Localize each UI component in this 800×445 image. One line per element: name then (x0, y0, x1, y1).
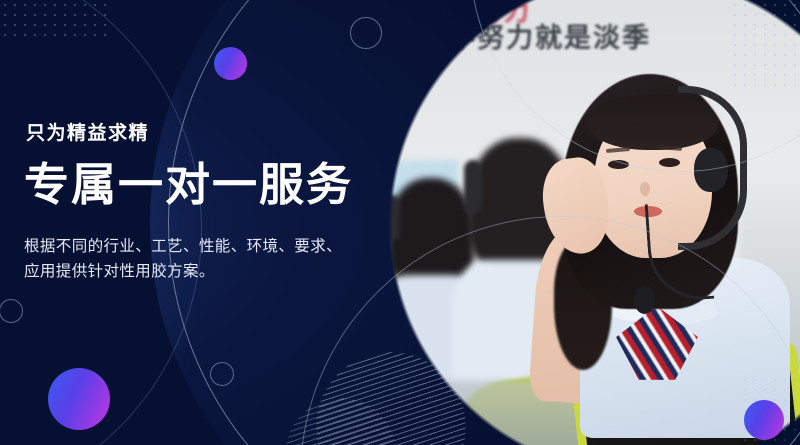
headset-earcup-icon (694, 148, 728, 192)
agent-nose (640, 182, 650, 196)
agent-eye-left (608, 160, 629, 169)
banner-eyebrow: 只为精益求精 (24, 124, 151, 147)
banner-body-line-2: 应用提供针对性用胶方案。 (24, 259, 354, 284)
gradient-orb-top (214, 47, 247, 80)
headset-mic-icon (634, 286, 655, 314)
banner-copy: 只为精益求精 专属一对一服务 根据不同的行业、工艺、性能、环境、要求、 应用提供… (24, 124, 404, 284)
dot-grid-top-right (730, 0, 800, 88)
gradient-orb-right (744, 400, 784, 440)
gradient-orb-left (48, 368, 110, 430)
banner-headline: 专属一对一服务 (24, 161, 404, 208)
outline-ring-left (0, 299, 23, 323)
outline-ring-center (210, 362, 234, 386)
outline-ring-top (350, 17, 382, 49)
agent-eye-right (659, 158, 680, 167)
promo-banner: 努力 不努力就是淡季 (0, 0, 800, 445)
banner-body-line-1: 根据不同的行业、工艺、性能、环境、要求、 (24, 234, 354, 259)
wall-banner-dark-text: 不努力就是淡季 (448, 16, 748, 50)
dot-grid-top-left (0, 0, 108, 42)
colleague-mid-headset-icon (464, 160, 482, 214)
